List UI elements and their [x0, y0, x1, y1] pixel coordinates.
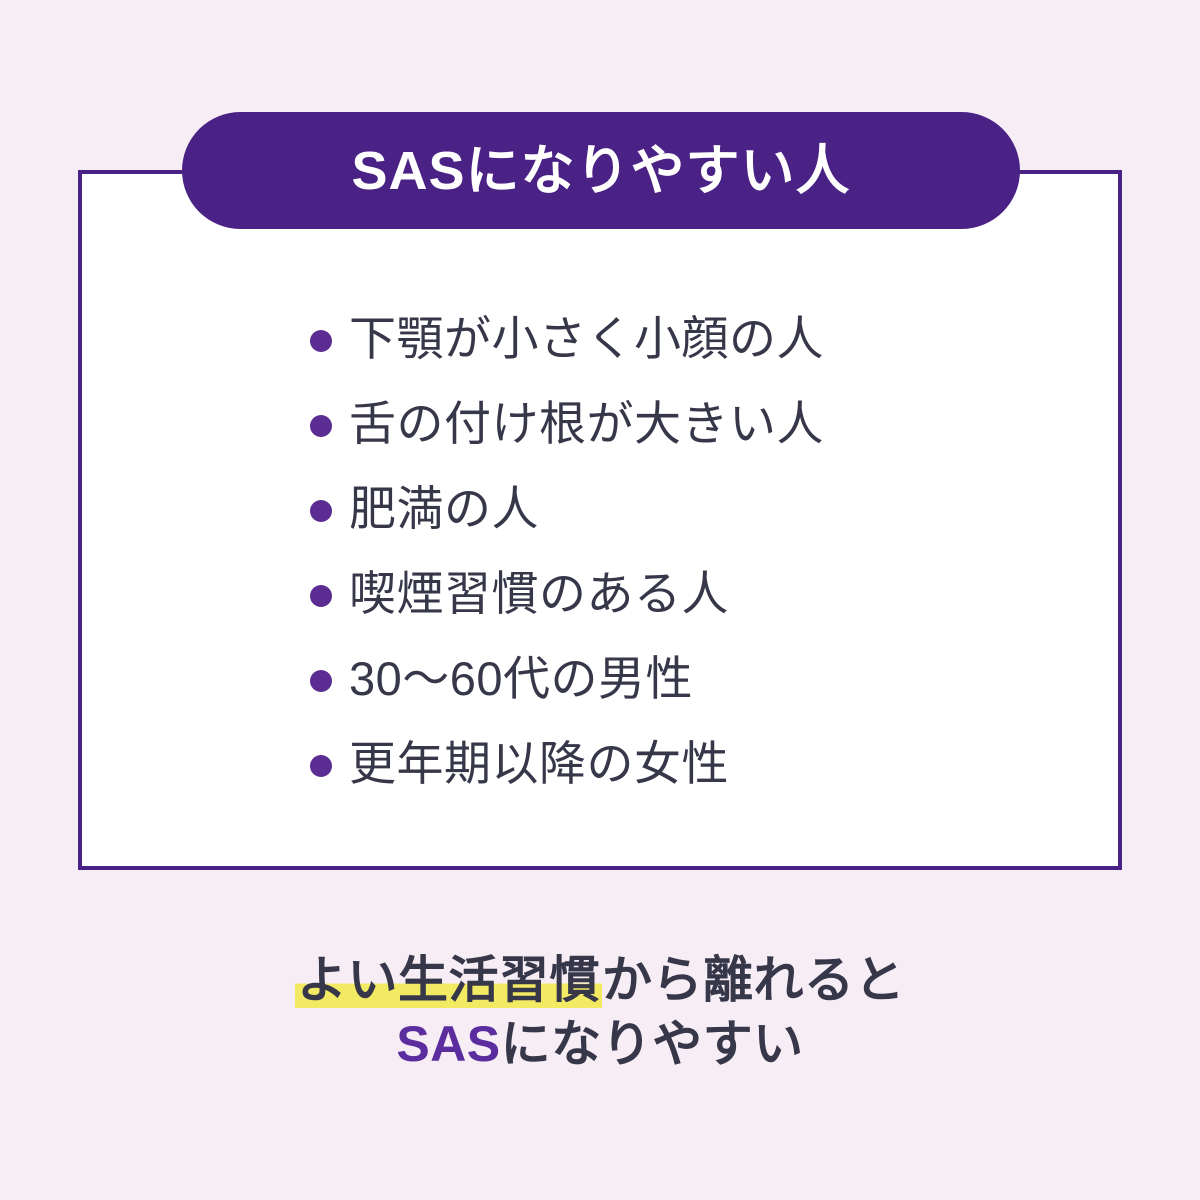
list-item: 30〜60代の男性: [310, 636, 1010, 721]
title-badge: SASになりやすい人: [182, 112, 1020, 229]
list-item-label: 下顎が小さく小顔の人: [349, 313, 824, 365]
bullet-dot-icon: [310, 500, 332, 522]
caption-accent-text: SAS: [396, 1016, 500, 1072]
caption-highlight-text: よい生活習慣: [295, 952, 602, 1008]
list-item-label: 舌の付け根が大きい人: [349, 398, 824, 450]
list-item-label: 更年期以降の女性: [349, 738, 729, 790]
list-item: 舌の付け根が大きい人: [310, 381, 1010, 466]
list-item: 肥満の人: [310, 466, 1010, 551]
caption-line-1-rest: から離れると: [602, 952, 905, 1008]
list-item: 喫煙習慣のある人: [310, 551, 1010, 636]
risk-factor-list: 下顎が小さく小顔の人 舌の付け根が大きい人 肥満の人 喫煙習慣のある人 30〜6…: [310, 296, 1010, 806]
bullet-dot-icon: [310, 330, 332, 352]
caption-line-1: よい生活習慣から離れると: [0, 948, 1200, 1012]
title-text: SASになりやすい人: [351, 144, 850, 198]
infographic-canvas: SASになりやすい人 下顎が小さく小顔の人 舌の付け根が大きい人 肥満の人 喫煙…: [0, 0, 1200, 1200]
list-item-label: 喫煙習慣のある人: [349, 568, 729, 620]
list-item-label: 30〜60代の男性: [349, 653, 693, 705]
caption-line-2: SASになりやすい: [0, 1012, 1200, 1076]
bullet-dot-icon: [310, 670, 332, 692]
list-item: 下顎が小さく小顔の人: [310, 296, 1010, 381]
bullet-dot-icon: [310, 585, 332, 607]
list-item-label: 肥満の人: [349, 483, 539, 535]
list-item: 更年期以降の女性: [310, 721, 1010, 806]
bullet-dot-icon: [310, 415, 332, 437]
caption-line-2-rest: になりやすい: [501, 1016, 804, 1072]
bullet-dot-icon: [310, 755, 332, 777]
summary-caption: よい生活習慣から離れると SASになりやすい: [0, 948, 1200, 1076]
